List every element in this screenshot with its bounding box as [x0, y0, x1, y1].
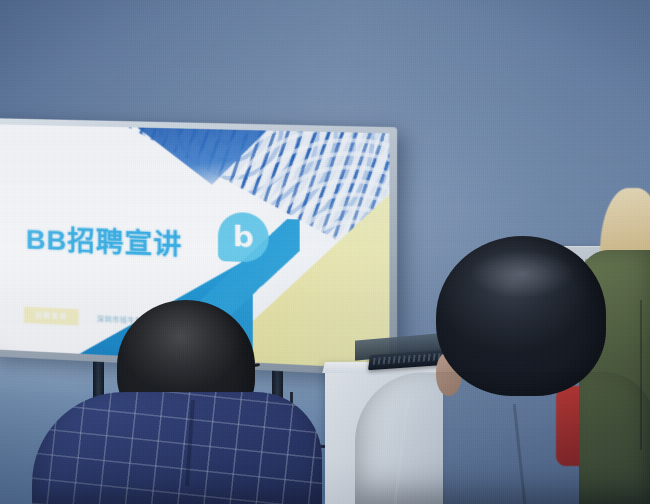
person-center-hair-highlight [470, 250, 574, 298]
slide-title: BB招聘宣讲 [26, 217, 182, 262]
slide-badge: 招聘宣讲 [24, 307, 79, 326]
person-center-camo-jacket [355, 372, 650, 504]
bb-logo-icon: b [218, 212, 269, 263]
person-front-check-blazer [32, 392, 322, 504]
photo-scene: BB招聘宣讲 b 招聘宣讲 深圳市班牛科技有限公司 [0, 0, 650, 504]
logo-letter: b [218, 212, 269, 263]
